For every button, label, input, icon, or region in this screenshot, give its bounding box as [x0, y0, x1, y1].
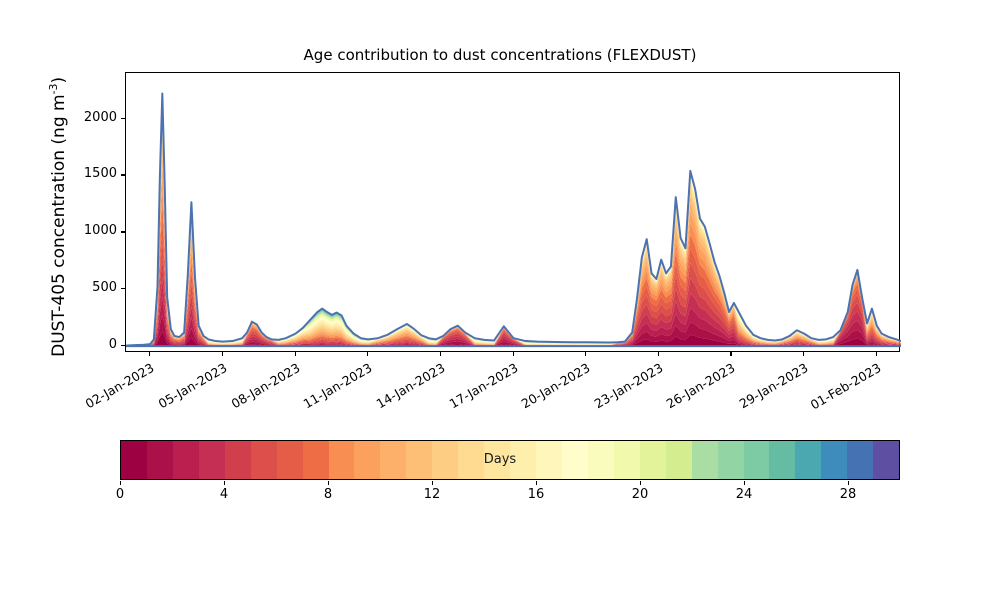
- x-tick-mark: [803, 352, 804, 356]
- area-band-age-15: [126, 111, 901, 345]
- colorbar-band: [744, 441, 770, 479]
- colorbar-band: [484, 441, 510, 479]
- area-band-age-28: [126, 94, 901, 346]
- area-band-age-20: [126, 99, 901, 346]
- area-band-age-8: [126, 184, 901, 347]
- area-band-age-10: [126, 154, 901, 346]
- colorbar-tick-mark: [328, 481, 329, 485]
- y-axis-label: DUST-405 concentration (ng m-3): [47, 47, 69, 387]
- colorbar-band: [640, 441, 666, 479]
- colorbar-band: [432, 441, 458, 479]
- x-tick-mark: [222, 352, 223, 356]
- colorbar-tick-mark: [120, 481, 121, 485]
- colorbar-tick-label: 4: [204, 487, 244, 502]
- colorbar-band: [354, 441, 380, 479]
- colorbar-band: [821, 441, 847, 479]
- y-axis-label-exponent: -3: [47, 83, 60, 94]
- area-band-age-16: [126, 107, 901, 345]
- colorbar-band: [329, 441, 355, 479]
- colorbar-tick-label: 0: [100, 487, 140, 502]
- x-tick-mark: [513, 352, 514, 356]
- y-tick-label: 2000: [27, 110, 117, 125]
- colorbar-band: [380, 441, 406, 479]
- colorbar-band: [769, 441, 795, 479]
- colorbar-tick-label: 20: [620, 487, 660, 502]
- y-axis-label-paren: ): [49, 77, 69, 84]
- area-band-age-4: [126, 258, 901, 346]
- area-band-age-18: [126, 102, 901, 346]
- y-tick-mark: [121, 231, 125, 232]
- colorbar-band: [510, 441, 536, 479]
- colorbar-tick-mark: [432, 481, 433, 485]
- x-tick-mark: [367, 352, 368, 356]
- colorbar-tick-label: 12: [412, 487, 452, 502]
- colorbar-tick-mark: [848, 481, 849, 485]
- figure: Age contribution to dust concentrations …: [0, 0, 1000, 600]
- colorbar-tick-mark: [744, 481, 745, 485]
- colorbar-band: [173, 441, 199, 479]
- colorbar-band: [666, 441, 692, 479]
- y-tick-label: 500: [27, 280, 117, 295]
- colorbar-band: [692, 441, 718, 479]
- x-tick-mark: [295, 352, 296, 356]
- colorbar-band: [536, 441, 562, 479]
- area-band-age-13: [126, 123, 901, 346]
- colorbar-band: [147, 441, 173, 479]
- y-tick-label: 1000: [27, 223, 117, 238]
- area-band-age-7: [126, 201, 901, 346]
- area-band-age-11: [126, 142, 901, 346]
- area-band-age-23: [126, 97, 901, 346]
- y-tick-mark: [121, 174, 125, 175]
- area-band-age-9: [126, 168, 901, 346]
- colorbar-band: [718, 441, 744, 479]
- colorbar-band: [199, 441, 225, 479]
- plot-axes: [125, 72, 900, 352]
- area-band-age-17: [126, 104, 901, 346]
- colorbar-band: [588, 441, 614, 479]
- area-band-age-12: [126, 132, 901, 346]
- area-band-age-6: [126, 219, 901, 346]
- y-tick-label: 0: [27, 337, 117, 352]
- x-tick-mark: [658, 352, 659, 356]
- colorbar-band: [277, 441, 303, 479]
- x-tick-mark: [440, 352, 441, 356]
- colorbar-tick-mark: [224, 481, 225, 485]
- y-tick-mark: [121, 288, 125, 289]
- area-band-age-27: [126, 94, 901, 345]
- y-tick-mark: [121, 118, 125, 119]
- x-tick-mark: [876, 352, 877, 356]
- area-band-age-26: [126, 95, 901, 346]
- area-band-age-25: [126, 96, 901, 346]
- colorbar-band: [251, 441, 277, 479]
- area-band-age-22: [126, 97, 901, 345]
- area-band-age-14: [126, 117, 901, 346]
- colorbar-tick-label: 24: [724, 487, 764, 502]
- chart-title: Age contribution to dust concentrations …: [0, 46, 1000, 64]
- colorbar-band: [406, 441, 432, 479]
- colorbar-band: [873, 441, 899, 479]
- area-band-age-3: [126, 278, 901, 346]
- colorbar-tick-mark: [536, 481, 537, 485]
- area-band-age-24: [126, 96, 901, 346]
- x-tick-mark: [585, 352, 586, 356]
- colorbar[interactable]: [120, 440, 900, 480]
- colorbar-band: [614, 441, 640, 479]
- colorbar-band: [121, 441, 147, 479]
- total-concentration-line: [126, 93, 901, 345]
- colorbar-band: [562, 441, 588, 479]
- colorbar-band: [847, 441, 873, 479]
- area-band-age-5: [126, 239, 901, 346]
- colorbar-band: [458, 441, 484, 479]
- colorbar-tick-label: 16: [516, 487, 556, 502]
- y-tick-mark: [121, 345, 125, 346]
- y-tick-label: 1500: [27, 166, 117, 181]
- colorbar-tick-label: 28: [828, 487, 868, 502]
- x-tick-mark: [730, 352, 731, 356]
- colorbar-band: [303, 441, 329, 479]
- x-tick-mark: [149, 352, 150, 356]
- area-band-age-21: [126, 98, 901, 346]
- colorbar-band: [225, 441, 251, 479]
- stacked-area-plot: [126, 73, 901, 353]
- colorbar-tick-label: 8: [308, 487, 348, 502]
- area-band-age-19: [126, 100, 901, 345]
- colorbar-band: [795, 441, 821, 479]
- area-band-age-29: [126, 93, 901, 345]
- colorbar-tick-mark: [640, 481, 641, 485]
